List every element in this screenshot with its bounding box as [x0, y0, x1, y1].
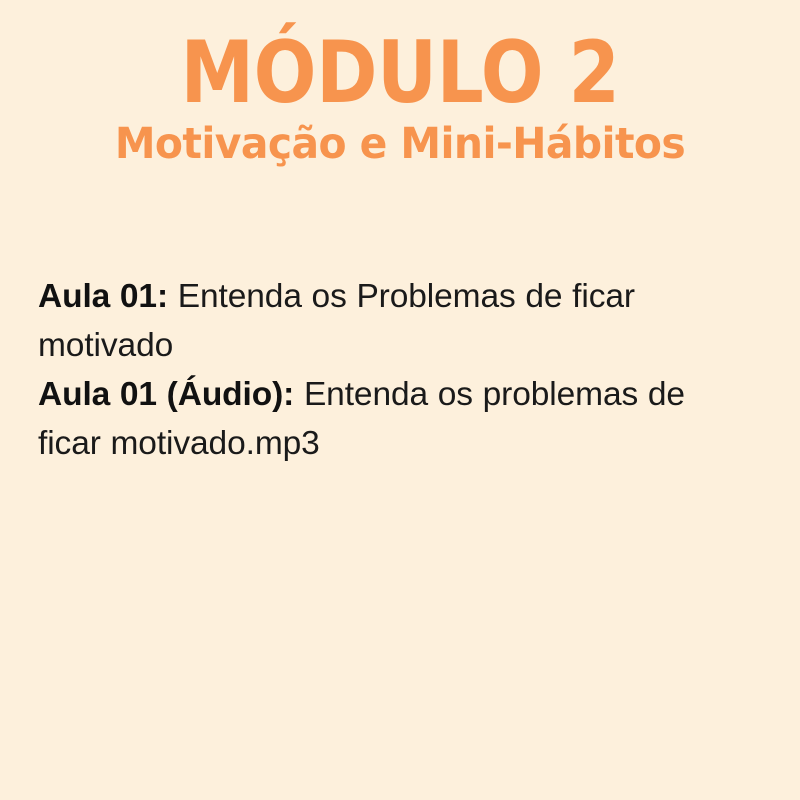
lesson-label: Aula 01: [38, 278, 168, 315]
lesson-label-audio: Aula 01 (Áudio): [38, 376, 294, 413]
list-item: Aula 01 (Áudio): Entenda os problemas de… [38, 370, 754, 468]
header: MÓDULO 2 Motivação e Mini-Hábitos [0, 32, 800, 166]
page-title: MÓDULO 2 [56, 32, 744, 115]
module-slide: MÓDULO 2 Motivação e Mini-Hábitos Aula 0… [0, 0, 800, 800]
page-subtitle: Motivação e Mini-Hábitos [20, 123, 780, 167]
lesson-list: Aula 01: Entenda os Problemas de ficar m… [38, 272, 754, 468]
list-item: Aula 01: Entenda os Problemas de ficar m… [38, 272, 754, 370]
